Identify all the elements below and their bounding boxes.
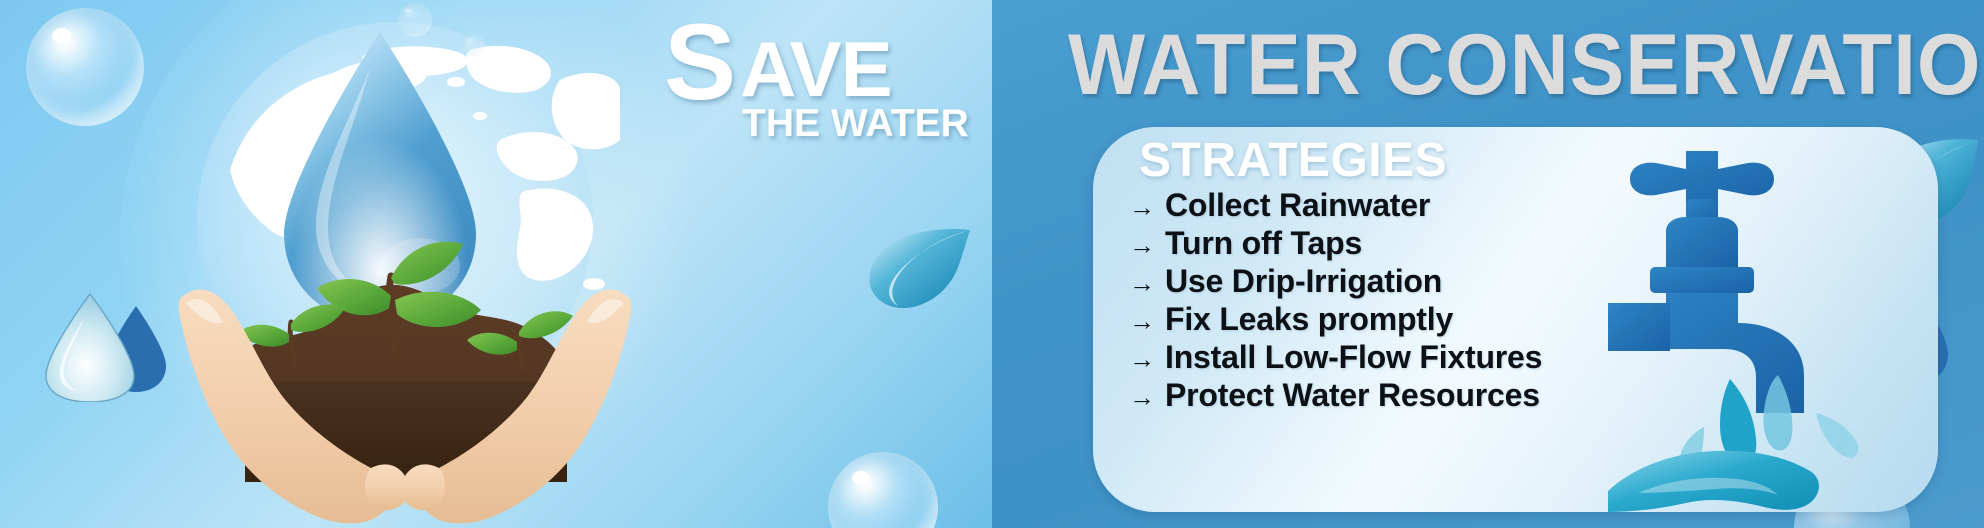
arrow-icon: → — [1129, 194, 1165, 220]
card-title: STRATEGIES — [1139, 133, 1447, 188]
list-item[interactable]: → Turn off Taps — [1129, 225, 1769, 263]
strategies-list: → Collect Rainwater → Turn off Taps → Us… — [1129, 187, 1769, 415]
list-item-label: Use Drip-Irrigation — [1165, 263, 1442, 300]
strategies-card: STRATEGIES → Collect Rainwater → Turn of… — [1093, 127, 1938, 512]
cupped-hands-icon — [175, 230, 635, 528]
arrow-icon: → — [1129, 384, 1165, 410]
list-item-label: Collect Rainwater — [1165, 187, 1430, 224]
list-item[interactable]: → Protect Water Resources — [1129, 377, 1769, 415]
save-big-letter: S — [664, 8, 733, 116]
list-item[interactable]: → Collect Rainwater — [1129, 187, 1769, 225]
water-conservation-banner: S AVE THE WATER WATER CONSERVATION — [0, 0, 1984, 528]
right-panel: WATER CONSERVATION — [992, 0, 1984, 528]
water-droplet-icon — [38, 282, 168, 402]
save-the-water-wordmark: S AVE THE WATER — [664, 18, 984, 148]
arrow-icon: → — [1129, 308, 1165, 334]
bubble-icon — [828, 452, 938, 528]
save-subtitle: THE WATER — [742, 104, 969, 143]
bubble-icon — [26, 8, 144, 126]
arrow-icon: → — [1129, 232, 1165, 258]
list-item-label: Protect Water Resources — [1165, 377, 1540, 414]
list-item[interactable]: → Fix Leaks promptly — [1129, 301, 1769, 339]
bubble-icon — [398, 3, 432, 37]
list-item[interactable]: → Use Drip-Irrigation — [1129, 263, 1769, 301]
teal-droplet-icon — [862, 224, 972, 312]
arrow-icon: → — [1129, 270, 1165, 296]
left-panel: S AVE THE WATER — [0, 0, 992, 528]
list-item-label: Turn off Taps — [1165, 225, 1362, 262]
page-title: WATER CONSERVATION — [1068, 22, 1923, 108]
save-line: S AVE — [664, 18, 984, 102]
bubble-icon — [463, 35, 485, 57]
save-rest-letters: AVE — [740, 30, 892, 108]
list-item[interactable]: → Install Low-Flow Fixtures — [1129, 339, 1769, 377]
arrow-icon: → — [1129, 346, 1165, 372]
list-item-label: Fix Leaks promptly — [1165, 301, 1453, 338]
list-item-label: Install Low-Flow Fixtures — [1165, 339, 1542, 376]
